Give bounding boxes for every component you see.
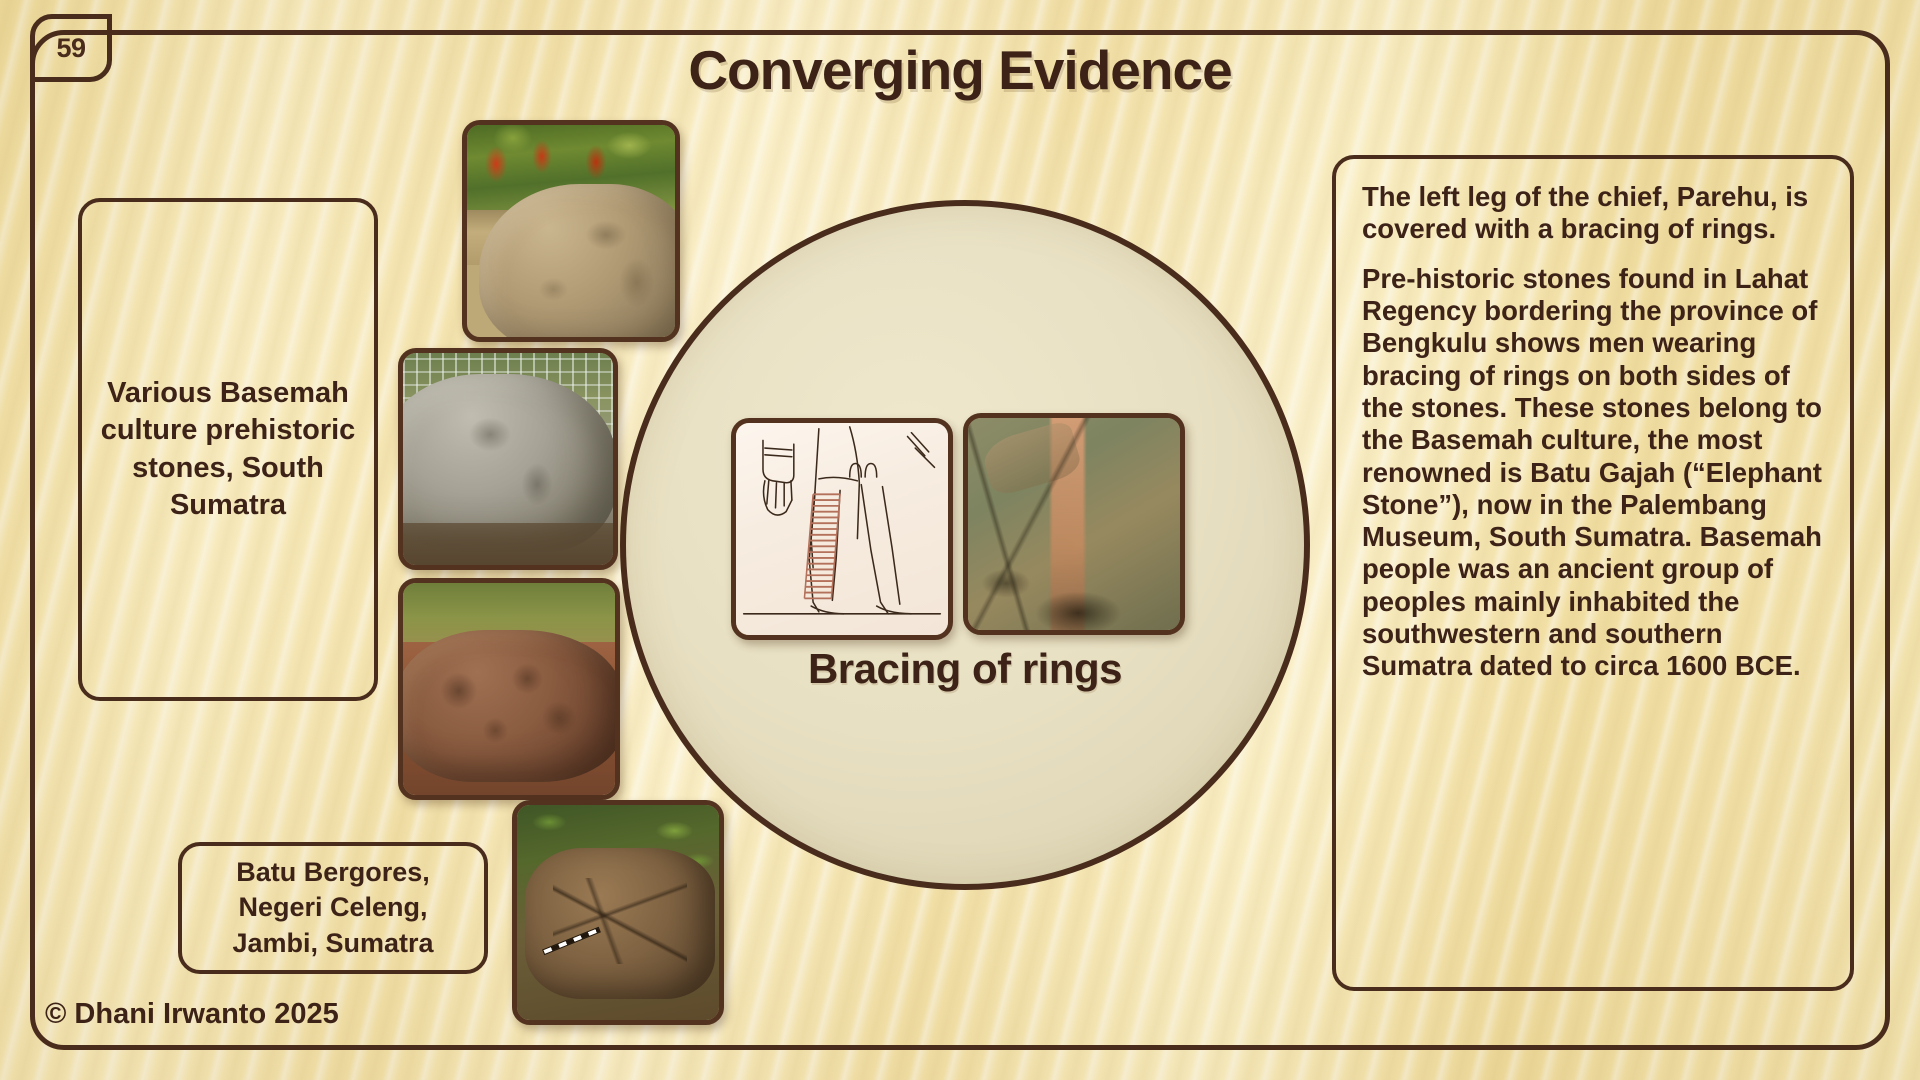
- photo-batu-gajah-stone-image: [467, 125, 675, 337]
- line-drawing-figure-icon: [736, 423, 948, 635]
- circle-caption: Bracing of rings: [620, 645, 1310, 693]
- bottom-caption-text: Batu Bergores, Negeri Celeng, Jambi, Sum…: [194, 855, 472, 960]
- stone-relief-bracing: [963, 413, 1185, 635]
- right-panel-paragraph-1: The left leg of the chief, Parehu, is co…: [1362, 181, 1824, 246]
- right-text-panel: The left leg of the chief, Parehu, is co…: [1332, 155, 1854, 991]
- photo-grey-statue-fence: [398, 348, 618, 570]
- photo-grey-statue-fence-image: [403, 353, 613, 565]
- right-panel-paragraph-2: Pre-historic stones found in Lahat Regen…: [1362, 263, 1824, 683]
- page-title: Converging Evidence: [0, 38, 1920, 102]
- left-caption-text: Various Basemah culture prehistoric ston…: [96, 375, 360, 523]
- slide: 59 Converging Evidence Various Basemah c…: [0, 0, 1920, 1080]
- photo-batu-bergores-engraved-image: [517, 805, 719, 1020]
- photo-batu-gajah-stone: [462, 120, 680, 342]
- egyptian-line-drawing-image: [736, 423, 948, 635]
- photo-batu-bergores-engraved: [512, 800, 724, 1025]
- stone-relief-bracing-image: [968, 418, 1180, 630]
- bottom-caption-box: Batu Bergores, Negeri Celeng, Jambi, Sum…: [178, 842, 488, 974]
- left-caption-box: Various Basemah culture prehistoric ston…: [78, 198, 378, 701]
- photo-reddish-stone-grass: [398, 578, 620, 800]
- egyptian-line-drawing-bracing: [731, 418, 953, 640]
- photo-reddish-stone-grass-image: [403, 583, 615, 795]
- copyright-text: © Dhani Irwanto 2025: [45, 998, 339, 1031]
